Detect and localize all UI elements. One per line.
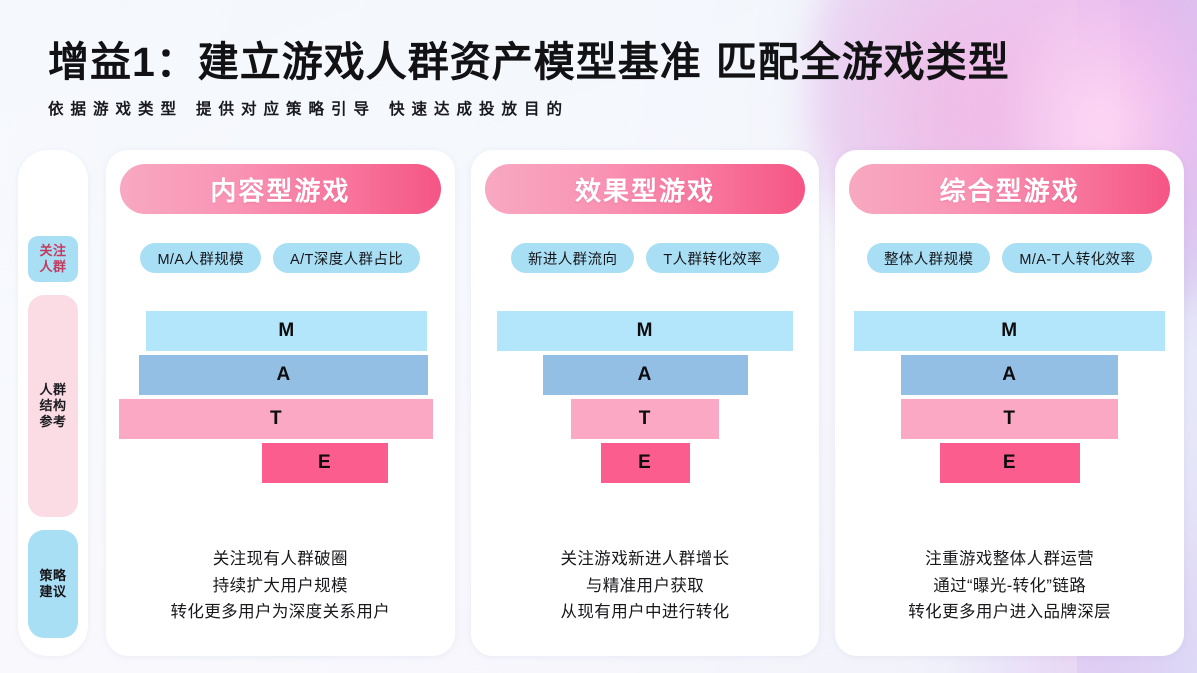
metric-pill[interactable]: 新进人群流向: [511, 243, 634, 273]
metric-pill[interactable]: M/A人群规模: [140, 243, 261, 273]
strategy-notes-performance-games: 关注游戏新进人群增长 与精准用户获取 从现有用户中进行转化: [485, 546, 806, 656]
strategy-notes-content-games: 关注现有人群破圈 持续扩大用户规模 转化更多用户为深度关系用户: [120, 546, 441, 656]
metric-pill[interactable]: T人群转化效率: [646, 243, 779, 273]
funnel-bar-a: A: [543, 355, 748, 395]
note-line: 关注游戏新进人群增长: [485, 546, 806, 573]
funnel-bar-a: A: [901, 355, 1118, 395]
column-title-performance-games: 效果型游戏: [485, 164, 806, 214]
funnel-bar-a: A: [139, 355, 428, 395]
note-line: 从现有用户中进行转化: [485, 599, 806, 626]
page-subtitle: 依据游戏类型提供对应策略引导快速达成投放目的: [48, 97, 1010, 119]
metric-pill-row-2: 新进人群流向 T人群转化效率: [485, 243, 806, 273]
sidebar-item-focus-audience[interactable]: 关注人群: [28, 236, 78, 282]
note-line: 持续扩大用户规模: [120, 573, 441, 600]
sidebar-item-strategy-suggestion[interactable]: 策略建议: [28, 530, 78, 638]
note-line: 转化更多用户为深度关系用户: [120, 599, 441, 626]
note-line: 注重游戏整体人群运营: [849, 546, 1170, 573]
page-subtitle-part3: 快速达成投放目的: [389, 101, 569, 118]
column-performance-games: 效果型游戏 新进人群流向 T人群转化效率 M A T E 关注游戏新进人群增长 …: [471, 150, 820, 656]
funnel-bar-t: T: [119, 399, 433, 439]
funnel-bar-e: E: [262, 443, 388, 483]
column-title-comprehensive-games: 综合型游戏: [849, 164, 1170, 214]
funnel-bar-e: E: [940, 443, 1080, 483]
column-title-content-games: 内容型游戏: [120, 164, 441, 214]
metric-pill-row-3: 整体人群规模 M/A-T人转化效率: [849, 243, 1170, 273]
page-header: 增益1：建立游戏人群资产模型基准匹配全游戏类型 依据游戏类型提供对应策略引导快速…: [48, 40, 1010, 119]
funnel-chart-performance-games: M A T E: [485, 311, 806, 483]
note-line: 转化更多用户进入品牌深层: [849, 599, 1170, 626]
page-title-part1: 增益1：建立游戏人群资产模型基准: [48, 39, 702, 85]
note-line: 与精准用户获取: [485, 573, 806, 600]
page-title-part2: 匹配全游戏类型: [716, 39, 1010, 85]
column-comprehensive-games: 综合型游戏 整体人群规模 M/A-T人转化效率 M A T E 注重游戏整体人群…: [835, 150, 1184, 656]
sidebar: 关注人群 人群结构参考 策略建议: [18, 150, 88, 656]
metric-pill-row-1: M/A人群规模 A/T深度人群占比: [120, 243, 441, 273]
funnel-bar-m: M: [854, 311, 1165, 351]
funnel-bar-m: M: [146, 311, 427, 351]
sidebar-item-audience-structure-reference[interactable]: 人群结构参考: [28, 295, 78, 517]
funnel-bar-t: T: [901, 399, 1118, 439]
page-subtitle-part1: 依据游戏类型: [48, 101, 183, 118]
funnel-bar-e: E: [601, 443, 690, 483]
column-group: 内容型游戏 M/A人群规模 A/T深度人群占比 M A T E 关注现有人群破圈…: [106, 150, 1184, 656]
funnel-bar-m: M: [497, 311, 793, 351]
note-line: 关注现有人群破圈: [120, 546, 441, 573]
funnel-bar-t: T: [571, 399, 719, 439]
page-title: 增益1：建立游戏人群资产模型基准匹配全游戏类型: [48, 40, 1010, 84]
column-content-games: 内容型游戏 M/A人群规模 A/T深度人群占比 M A T E 关注现有人群破圈…: [106, 150, 455, 656]
metric-pill[interactable]: 整体人群规模: [867, 243, 990, 273]
strategy-notes-comprehensive-games: 注重游戏整体人群运营 通过“曝光-转化”链路 转化更多用户进入品牌深层: [849, 546, 1170, 656]
page-subtitle-part2: 提供对应策略引导: [196, 101, 376, 118]
metric-pill[interactable]: A/T深度人群占比: [273, 243, 420, 273]
funnel-chart-comprehensive-games: M A T E: [849, 311, 1170, 483]
note-line: 通过“曝光-转化”链路: [849, 573, 1170, 600]
funnel-chart-content-games: M A T E: [120, 311, 441, 483]
metric-pill[interactable]: M/A-T人转化效率: [1002, 243, 1152, 273]
content-board: 关注人群 人群结构参考 策略建议 内容型游戏 M/A人群规模 A/T深度人群占比…: [18, 150, 1184, 656]
